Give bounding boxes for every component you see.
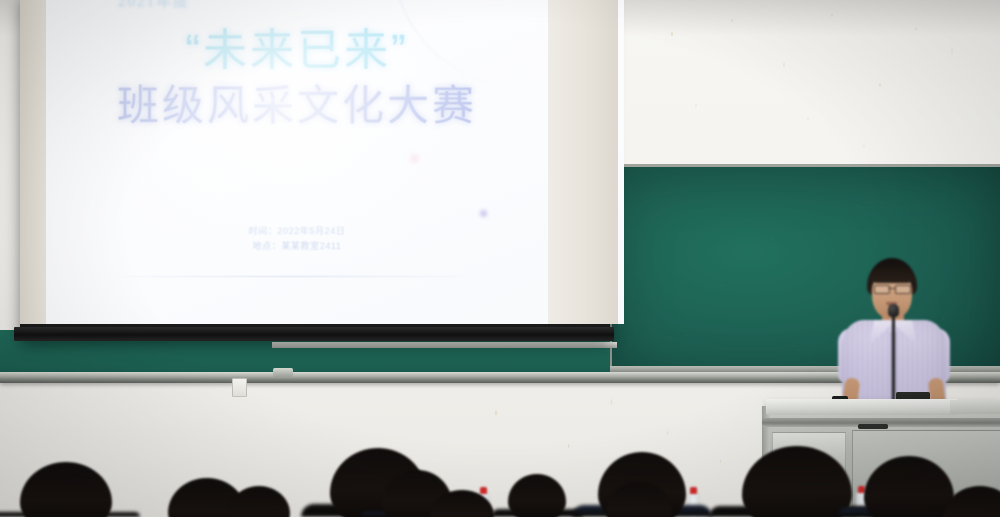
microphone-icon	[888, 304, 899, 317]
lectern-top-surface	[766, 399, 958, 415]
slide-title: “未来已来”	[46, 14, 548, 78]
projection-screen-frame: 2021年度 “未来已来” 班级风采文化大赛 时间：2022年5月24日 地点：…	[20, 0, 610, 339]
slide-meta-location: 地点：某某教室2411	[46, 239, 548, 254]
chalk-tray-end-cap	[273, 368, 293, 377]
wall-stains-lower	[430, 380, 760, 490]
glasses-right-lens	[895, 285, 911, 294]
lectern-top-surface-right	[950, 400, 1000, 414]
classroom-photo: 2021年度 “未来已来” 班级风采文化大赛 时间：2022年5月24日 地点：…	[0, 0, 1000, 517]
slide-dot-violet	[478, 208, 489, 219]
slide-year-label: 2021年度	[118, 0, 190, 11]
bottle-cap	[690, 487, 697, 494]
wall-switch-plate[interactable]	[232, 378, 247, 397]
screen-left-edge	[20, 0, 46, 324]
slide-meta-time: 时间：2022年5月24日	[46, 224, 548, 239]
lecturer-fringe	[869, 266, 915, 283]
screen-right-unlit-band	[548, 0, 618, 324]
projection-screen-bottom-bar	[14, 327, 614, 341]
chalk-tray-upper	[272, 342, 617, 348]
lectern-handle	[858, 424, 888, 429]
slide-divider-rule	[118, 276, 468, 277]
glasses-icon	[874, 285, 910, 292]
slide-subtitle: 班级风采文化大赛	[46, 72, 548, 133]
glasses-left-lens	[874, 285, 890, 294]
projected-slide: 2021年度 “未来已来” 班级风采文化大赛 时间：2022年5月24日 地点：…	[46, 0, 548, 324]
lecturer	[838, 258, 950, 418]
bottle-cap	[480, 487, 487, 494]
slide-dot-pink	[408, 152, 421, 165]
glasses-bridge	[888, 288, 895, 289]
